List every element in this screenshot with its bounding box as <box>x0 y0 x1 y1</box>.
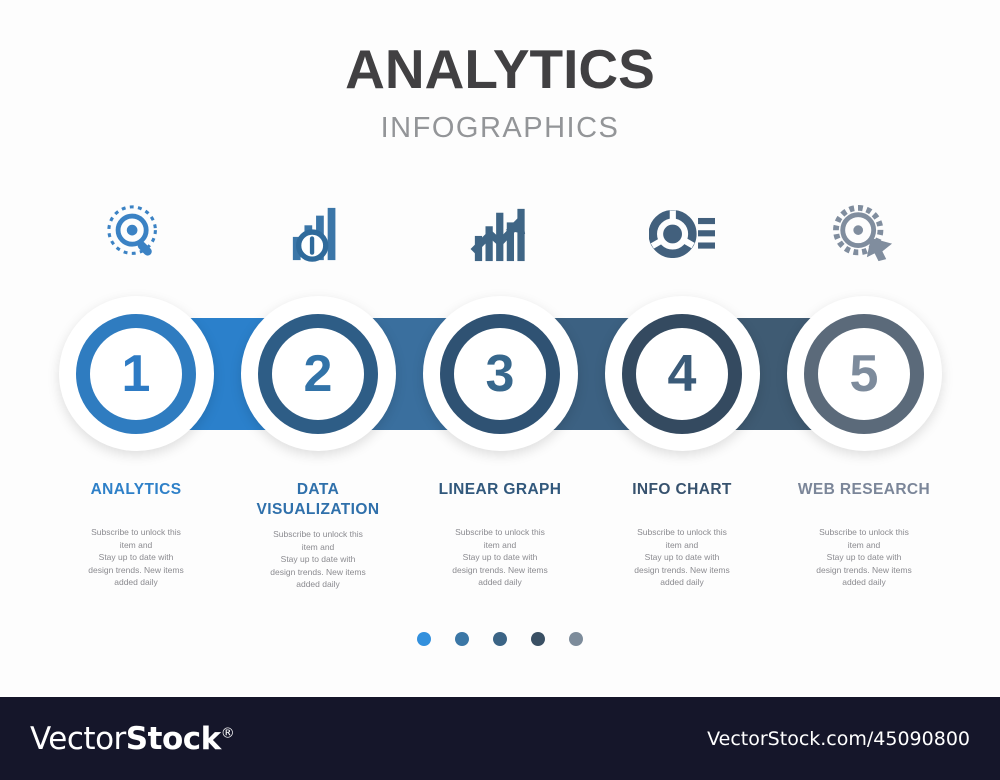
vectorstock-logo: VectorStock® <box>30 721 234 757</box>
step-text-2: DATA VISUALIZATION Subscribe to unlock t… <box>227 480 409 591</box>
desc-line: Subscribe to unlock this <box>781 526 947 539</box>
desc-line: Subscribe to unlock this <box>53 526 219 539</box>
icon-cell-1 <box>45 200 227 272</box>
desc-line: design trends. New items <box>235 566 401 579</box>
step-color-ring-1: 1 <box>76 314 196 434</box>
registered-trademark-icon: ® <box>221 725 235 741</box>
desc-line: Stay up to date with <box>53 551 219 564</box>
step-outer-ring-3: 3 <box>423 296 578 451</box>
header: ANALYTICS INFOGRAPHICS <box>0 38 1000 145</box>
step-circle-5[interactable]: 5 <box>773 296 955 451</box>
step-label-5: WEB RESEARCH <box>781 480 947 500</box>
steps-text-row: ANALYTICS Subscribe to unlock this item … <box>45 480 955 591</box>
step-color-ring-4: 4 <box>622 314 742 434</box>
step-outer-ring-1: 1 <box>59 296 214 451</box>
step-number-4: 4 <box>636 328 728 420</box>
step-outer-ring-4: 4 <box>605 296 760 451</box>
step-label-2: DATA VISUALIZATION <box>235 480 401 520</box>
step-outer-ring-5: 5 <box>787 296 942 451</box>
desc-line: Subscribe to unlock this <box>417 526 583 539</box>
icon-cell-2 <box>227 200 409 272</box>
step-number-2: 2 <box>272 328 364 420</box>
step-text-4: INFO CHART Subscribe to unlock this item… <box>591 480 773 591</box>
desc-line: item and <box>53 539 219 552</box>
step-description-4: Subscribe to unlock this item and Stay u… <box>599 526 765 589</box>
step-circle-2[interactable]: 2 <box>227 296 409 451</box>
gear-globe-pointer-icon <box>832 205 896 268</box>
desc-line: Subscribe to unlock this <box>599 526 765 539</box>
desc-line: item and <box>417 539 583 552</box>
logo-text-vector: Vector <box>30 721 126 757</box>
pagination-dots <box>0 632 1000 646</box>
step-label-3: LINEAR GRAPH <box>417 480 583 500</box>
step-color-ring-2: 2 <box>258 314 378 434</box>
step-text-5: WEB RESEARCH Subscribe to unlock this it… <box>773 480 955 591</box>
step-outer-ring-2: 2 <box>241 296 396 451</box>
logo-text-stock: Stock <box>126 721 221 757</box>
desc-line: added daily <box>417 576 583 589</box>
step-circle-1[interactable]: 1 <box>45 296 227 451</box>
desc-line: design trends. New items <box>417 564 583 577</box>
desc-line: Subscribe to unlock this <box>235 528 401 541</box>
step-description-1: Subscribe to unlock this item and Stay u… <box>53 526 219 589</box>
desc-line: Stay up to date with <box>599 551 765 564</box>
desc-line: Stay up to date with <box>781 551 947 564</box>
page-title: ANALYTICS <box>0 38 1000 100</box>
infographic-canvas: ANALYTICS INFOGRAPHICS <box>0 0 1000 695</box>
step-number-1: 1 <box>90 328 182 420</box>
desc-line: added daily <box>599 576 765 589</box>
desc-line: added daily <box>781 576 947 589</box>
step-description-5: Subscribe to unlock this item and Stay u… <box>781 526 947 589</box>
desc-line: added daily <box>235 578 401 591</box>
bar-chart-magnifier-icon <box>289 204 347 269</box>
step-circle-3[interactable]: 3 <box>409 296 591 451</box>
step-color-ring-3: 3 <box>440 314 560 434</box>
step-color-ring-5: 5 <box>804 314 924 434</box>
desc-line: added daily <box>53 576 219 589</box>
desc-line: item and <box>599 539 765 552</box>
desc-line: Stay up to date with <box>417 551 583 564</box>
pagination-dot-5[interactable] <box>569 632 583 646</box>
watermark-footer: VectorStock® VectorStock.com/45090800 <box>0 697 1000 780</box>
step-description-3: Subscribe to unlock this item and Stay u… <box>417 526 583 589</box>
magnifier-dashed-circle-icon <box>105 203 167 270</box>
page-subtitle: INFOGRAPHICS <box>0 112 1000 145</box>
step-label-1: ANALYTICS <box>53 480 219 500</box>
desc-line: item and <box>781 539 947 552</box>
donut-chart-legend-icon <box>649 210 715 263</box>
pagination-dot-2[interactable] <box>455 632 469 646</box>
desc-line: design trends. New items <box>599 564 765 577</box>
pagination-dot-3[interactable] <box>493 632 507 646</box>
step-text-1: ANALYTICS Subscribe to unlock this item … <box>45 480 227 591</box>
icons-row <box>45 200 955 272</box>
step-circle-4[interactable]: 4 <box>591 296 773 451</box>
icon-cell-3 <box>409 200 591 272</box>
step-text-3: LINEAR GRAPH Subscribe to unlock this it… <box>409 480 591 591</box>
desc-line: Stay up to date with <box>235 553 401 566</box>
step-number-5: 5 <box>818 328 910 420</box>
pagination-dot-4[interactable] <box>531 632 545 646</box>
desc-line: item and <box>235 541 401 554</box>
desc-line: design trends. New items <box>53 564 219 577</box>
bar-chart-arrow-up-icon <box>469 205 531 268</box>
desc-line: design trends. New items <box>781 564 947 577</box>
step-description-2: Subscribe to unlock this item and Stay u… <box>235 528 401 591</box>
icon-cell-4 <box>591 200 773 272</box>
watermark-url: VectorStock.com/45090800 <box>707 728 970 750</box>
step-label-4: INFO CHART <box>599 480 765 500</box>
pagination-dot-1[interactable] <box>417 632 431 646</box>
icon-cell-5 <box>773 200 955 272</box>
step-number-3: 3 <box>454 328 546 420</box>
steps-circles-row: 1 2 3 4 <box>45 296 955 451</box>
